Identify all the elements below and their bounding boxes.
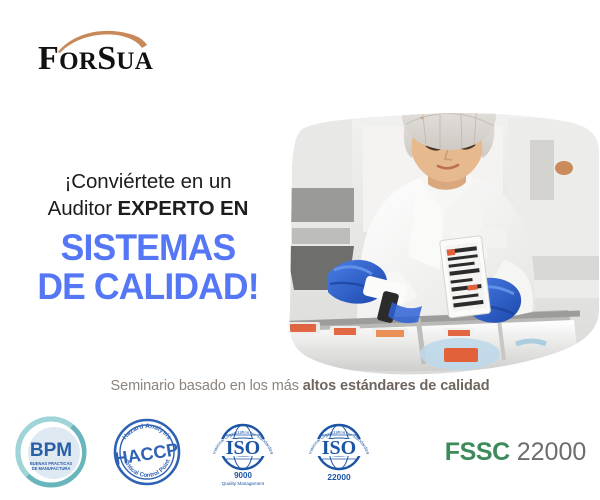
tagline-bold: altos estándares de calidad <box>303 378 490 394</box>
logo-wordmark: FORSUA <box>38 42 153 76</box>
badge-bpm-subtitle-line2: DE MANUFACTURA <box>31 466 70 471</box>
fssc-wordmark: FSSC 22000 <box>445 440 587 465</box>
badge-iso-9000-subtitle: Quality Management <box>222 481 265 486</box>
certification-badge-row: BPM BUENAS PRACTICAS DE MANUFACTURA Haza… <box>0 414 600 490</box>
headline-line-2-text: Auditor <box>48 197 118 220</box>
fssc-label: FSSC <box>445 438 510 466</box>
badge-bpm: BPM BUENAS PRACTICAS DE MANUFACTURA <box>14 415 88 489</box>
badge-iso-22000-number: 22000 <box>327 472 351 482</box>
tagline-plain: Seminario basado en los más <box>111 378 303 394</box>
fssc-number: 22000 <box>510 438 586 466</box>
headline-line-2-bold: EXPERTO EN <box>118 197 249 220</box>
badge-iso-22000: ISO International Organization for Stand… <box>302 415 376 489</box>
badge-fssc-22000: FSSC 22000 <box>398 432 587 472</box>
badge-iso-9000-number: 9000 <box>234 471 252 480</box>
tagline: Seminario basado en los más altos estánd… <box>0 378 600 394</box>
headline-block: ¡Conviértete en un Auditor EXPERTO EN SI… <box>14 168 282 306</box>
headline-line-1-text: ¡Conviértete en un <box>65 170 232 193</box>
headline-big-line-2: DE CALIDAD! <box>19 268 276 306</box>
badge-iso-9000: ISO International Organization for Stand… <box>206 415 280 489</box>
quality-inspector-photo <box>268 60 600 385</box>
badge-bpm-label: BPM <box>30 440 72 461</box>
fssc-swirl-icon <box>398 432 438 472</box>
promo-banner: FORSUA <box>0 0 600 500</box>
headline-emphasis: SISTEMAS DE CALIDAD! <box>19 229 276 306</box>
brand-logo[interactable]: FORSUA <box>38 28 218 84</box>
badge-iso-22000-label: ISO <box>321 437 355 459</box>
headline-line-1: ¡Conviértete en un Auditor EXPERTO EN <box>14 168 282 222</box>
badge-iso-9000-label: ISO <box>225 437 259 459</box>
headline-big-line-1: SISTEMAS <box>19 229 276 267</box>
badge-haccp: Hazard Analysis Critical Control Point H… <box>110 415 184 489</box>
